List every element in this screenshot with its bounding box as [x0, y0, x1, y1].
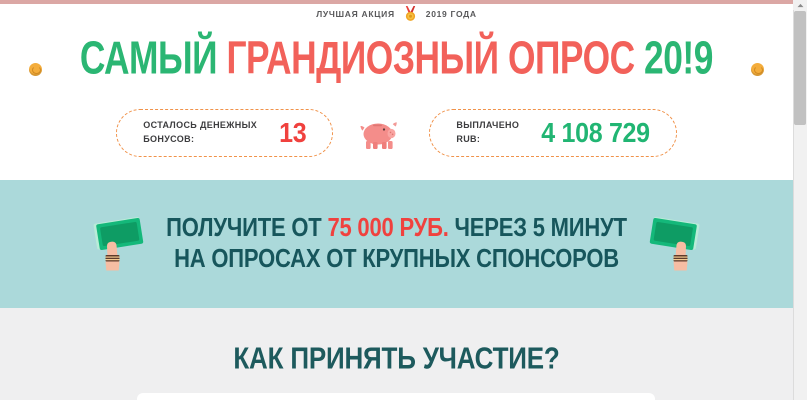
banner-line1-post: ЧЕРЕЗ 5 МИНУТ: [449, 213, 627, 243]
stats-row: ОСТАЛОСЬ ДЕНЕЖНЫХ БОНУСОВ: 13: [0, 102, 793, 164]
steps-card: [137, 393, 655, 400]
headline-row: САМЫЙ ГРАНДИОЗНЫЙ ОПРОС 20!9: [0, 34, 793, 84]
headline-part-2: ГРАНДИОЗНЫЙ ОПРОС: [227, 33, 635, 84]
hero-section: ЛУЧШАЯ АКЦИЯ 2019 ГОДА САМЫЙ ГРАНДИОЗНЫЙ…: [0, 4, 793, 180]
stat-box-bonuses-left: ОСТАЛОСЬ ДЕНЕЖНЫХ БОНУСОВ: 13: [116, 109, 333, 157]
money-hand-icon-right: [645, 209, 701, 279]
medal-icon: [403, 6, 418, 22]
banner-text: ПОЛУЧИТЕ ОТ 75 000 РУБ. ЧЕРЕЗ 5 МИНУТ НА…: [166, 213, 627, 275]
vertical-scrollbar[interactable]: [793, 0, 807, 400]
promo-text-right: 2019 ГОДА: [426, 9, 477, 19]
stat-value-paid: 4 108 729: [541, 119, 650, 147]
promo-banner: ПОЛУЧИТЕ ОТ 75 000 РУБ. ЧЕРЕЗ 5 МИНУТ НА…: [0, 180, 793, 308]
promo-ribbon: ЛУЧШАЯ АКЦИЯ 2019 ГОДА: [0, 6, 793, 22]
coin-icon-left: [29, 63, 42, 76]
headline-part-1: САМЫЙ: [80, 33, 217, 84]
headline-part-3: 20!9: [644, 33, 713, 84]
banner-line1-highlight: 75 000 РУБ.: [327, 213, 448, 243]
stat-label-paid: ВЫПЛАЧЕНО RUB:: [456, 119, 519, 147]
piggy-bank-icon: [359, 113, 403, 153]
banner-line-2: НА ОПРОСАХ ОТ КРУПНЫХ СПОНСОРОВ: [166, 241, 627, 277]
stat-value-bonuses: 13: [279, 119, 306, 147]
coin-icon-right: [751, 63, 764, 76]
chevron-up-icon[interactable]: [793, 0, 807, 10]
page-title: САМЫЙ ГРАНДИОЗНЫЙ ОПРОС 20!9: [80, 36, 713, 82]
stat-label-bonuses: ОСТАЛОСЬ ДЕНЕЖНЫХ БОНУСОВ:: [143, 119, 257, 147]
scrollbar-thumb[interactable]: [794, 11, 806, 125]
page-root: ЛУЧШАЯ АКЦИЯ 2019 ГОДА САМЫЙ ГРАНДИОЗНЫЙ…: [0, 0, 807, 400]
banner-line1-pre: ПОЛУЧИТЕ ОТ: [166, 213, 327, 243]
promo-text-left: ЛУЧШАЯ АКЦИЯ: [316, 9, 395, 19]
participation-section: КАК ПРИНЯТЬ УЧАСТИЕ?: [0, 308, 793, 400]
section-title: КАК ПРИНЯТЬ УЧАСТИЕ?: [0, 340, 793, 377]
stat-box-paid-right: ВЫПЛАЧЕНО RUB: 4 108 729: [429, 109, 676, 157]
money-hand-icon-left: [92, 209, 148, 279]
